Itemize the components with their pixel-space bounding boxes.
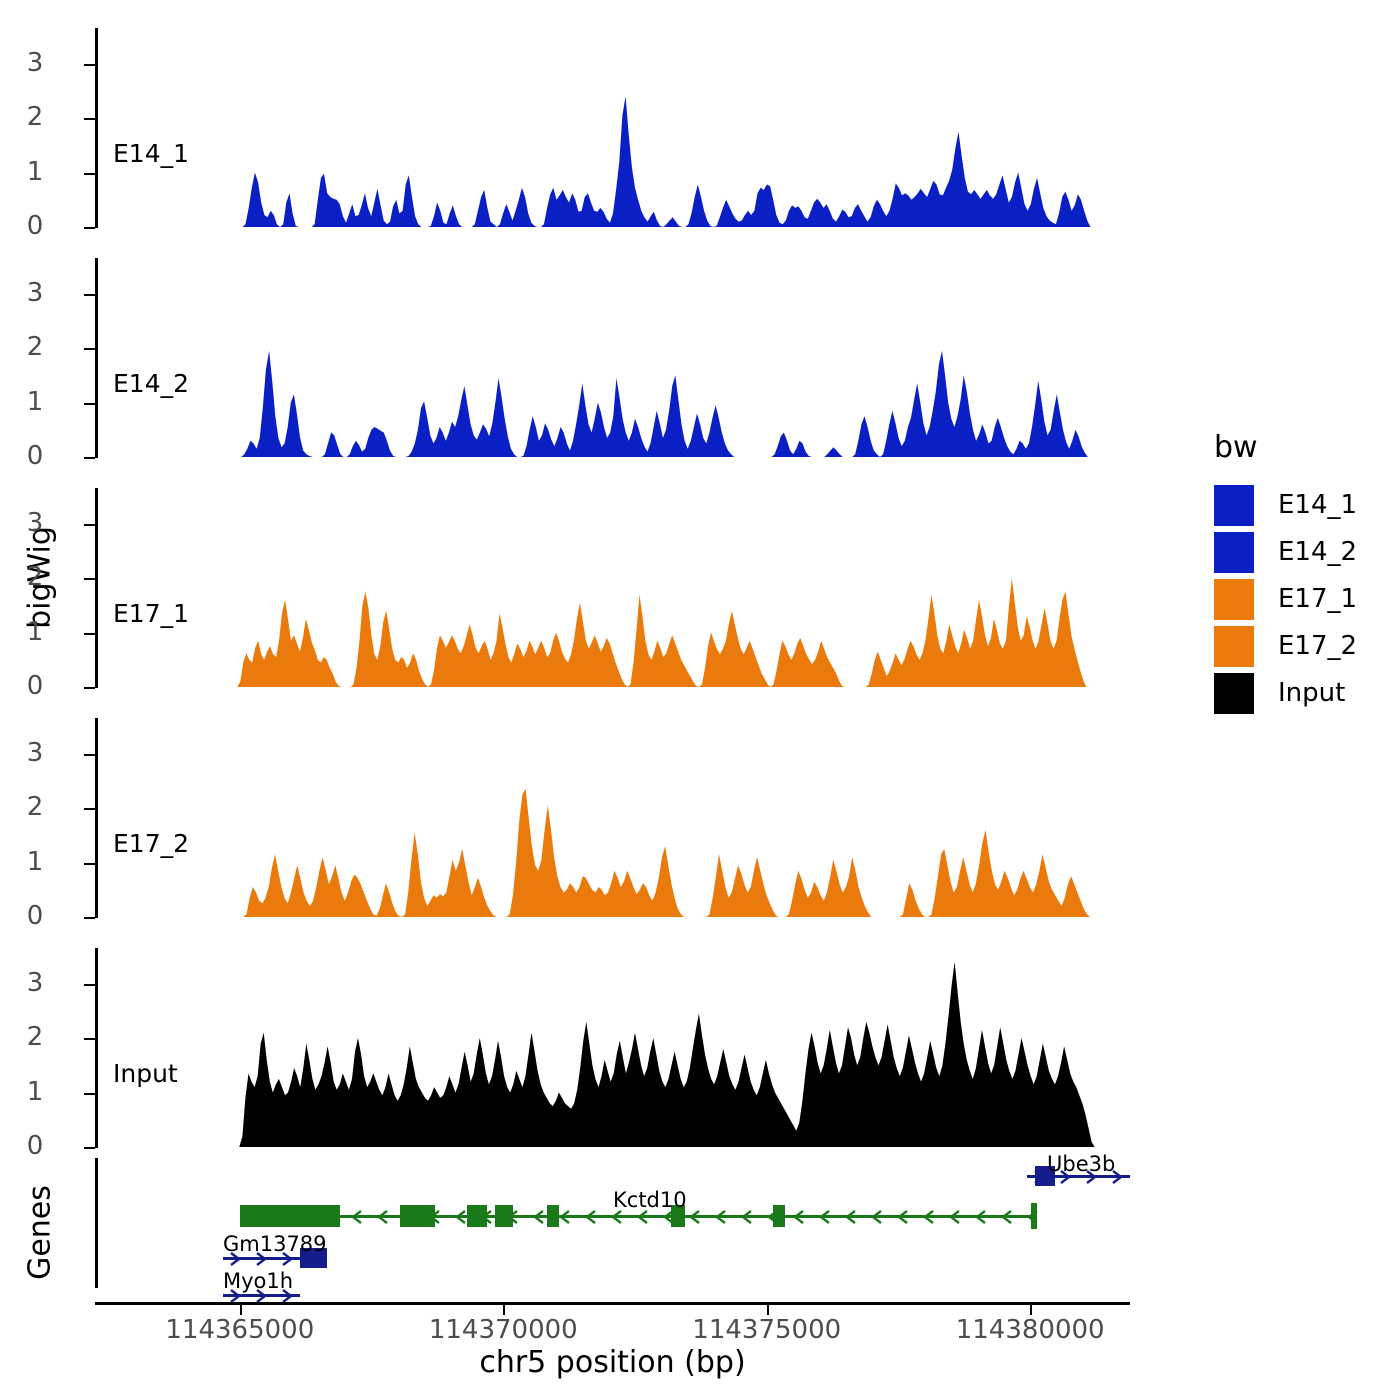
- y-tick-label: 2: [27, 1022, 44, 1052]
- gene-label-ube3b: Ube3b: [1047, 1152, 1115, 1176]
- y-tick-label: 3: [27, 278, 44, 308]
- legend-swatch: [1214, 532, 1254, 573]
- y-tick-label: 3: [27, 48, 44, 78]
- legend-title: bw: [1214, 430, 1357, 465]
- x-axis-line: [95, 1302, 1130, 1305]
- wiggle-area-e14_2: [98, 258, 1130, 458]
- legend-item-e17_1[interactable]: E17_1: [1214, 577, 1357, 621]
- y-tick-label: 0: [27, 901, 44, 931]
- y-tick: [84, 754, 95, 756]
- legend-label: E17_2: [1278, 631, 1357, 661]
- y-tick: [84, 808, 95, 810]
- x-tick: [240, 1305, 242, 1315]
- legend-label: E14_2: [1278, 537, 1357, 567]
- legend-swatch: [1214, 579, 1254, 620]
- legend-item-e17_2[interactable]: E17_2: [1214, 624, 1357, 668]
- legend-label: E17_1: [1278, 584, 1357, 614]
- y-tick-label: 2: [27, 562, 44, 592]
- y-tick-label: 1: [27, 387, 44, 417]
- gene-exon: [547, 1205, 559, 1227]
- genes-axis-line: [95, 1158, 98, 1288]
- y-tick-label: 3: [27, 738, 44, 768]
- y-tick: [84, 403, 95, 405]
- gene-strand-arrow: [845, 1209, 856, 1223]
- track-panel-e14_2: 0123E14_2: [95, 258, 1130, 458]
- y-tick: [84, 863, 95, 865]
- y-tick: [84, 1093, 95, 1095]
- y-tick: [84, 917, 95, 919]
- gene-strand-arrow: [793, 1209, 804, 1223]
- y-tick-label: 0: [27, 441, 44, 471]
- gene-exon: [240, 1205, 340, 1227]
- y-tick-label: 2: [27, 102, 44, 132]
- y-tick-label: 1: [27, 1077, 44, 1107]
- x-tick: [767, 1305, 769, 1315]
- wiggle-area-e17_1: [98, 488, 1130, 688]
- y-tick: [84, 1147, 95, 1149]
- track-panel-input: 0123Input: [95, 948, 1130, 1148]
- gene-label-kctd10: Kctd10: [613, 1188, 687, 1212]
- gene-exon: [495, 1205, 513, 1227]
- y-tick-label: 3: [27, 508, 44, 538]
- legend-swatch: [1214, 673, 1254, 714]
- wiggle-area-e14_1: [98, 28, 1130, 228]
- legend-item-input[interactable]: Input: [1214, 671, 1357, 715]
- y-tick: [84, 118, 95, 120]
- legend-items: E14_1E14_2E17_1E17_2Input: [1214, 483, 1357, 715]
- gene-strand-arrow: [559, 1209, 570, 1223]
- gene-strand-arrow: [741, 1209, 752, 1223]
- gene-strand-arrow: [377, 1209, 388, 1223]
- legend-item-e14_2[interactable]: E14_2: [1214, 530, 1357, 574]
- gene-strand-arrow: [923, 1209, 934, 1223]
- gene-strand-arrow: [975, 1209, 986, 1223]
- gene-exon: [773, 1205, 785, 1227]
- gene-strand-arrow: [871, 1209, 882, 1223]
- y-tick: [84, 1038, 95, 1040]
- gene-strand-arrow: [585, 1209, 596, 1223]
- legend: bw E14_1E14_2E17_1E17_2Input: [1214, 430, 1357, 718]
- gene-strand-arrow: [949, 1209, 960, 1223]
- gene-strand-arrow: [689, 1209, 700, 1223]
- gene-strand-arrow: [819, 1209, 830, 1223]
- gene-exon: [400, 1205, 435, 1227]
- genome-browser-figure: bigWig Genes chr5 position (bp) 0123E14_…: [0, 0, 1400, 1400]
- y-axis-label-genes: Genes: [23, 1133, 58, 1333]
- y-tick: [84, 984, 95, 986]
- x-tick-label: 114375000: [692, 1315, 841, 1345]
- legend-swatch: [1214, 626, 1254, 667]
- legend-swatch: [1214, 485, 1254, 526]
- x-axis-label: chr5 position (bp): [95, 1345, 1130, 1380]
- y-tick: [84, 64, 95, 66]
- wiggle-area-e17_2: [98, 718, 1130, 918]
- y-tick-label: 3: [27, 968, 44, 998]
- gene-strand-arrow: [715, 1209, 726, 1223]
- y-tick-label: 0: [27, 671, 44, 701]
- y-tick: [84, 633, 95, 635]
- y-tick: [84, 524, 95, 526]
- x-tick-label: 114365000: [165, 1315, 314, 1345]
- y-tick-label: 0: [27, 211, 44, 241]
- gene-exon: [467, 1205, 487, 1227]
- legend-label: Input: [1278, 678, 1345, 708]
- y-tick: [84, 348, 95, 350]
- wiggle-area-input: [98, 948, 1130, 1148]
- track-panel-e14_1: 0123E14_1: [95, 28, 1130, 228]
- gene-strand-arrow: [533, 1209, 544, 1223]
- genes-track-panel: Kctd10Ube3bGm13789Myo1h: [95, 1158, 1130, 1288]
- gene-end-cap: [1031, 1203, 1037, 1229]
- legend-label: E14_1: [1278, 490, 1357, 520]
- y-tick: [84, 578, 95, 580]
- y-tick-label: 0: [27, 1131, 44, 1161]
- x-tick: [1030, 1305, 1032, 1315]
- y-tick: [84, 227, 95, 229]
- gene-strand-arrow: [351, 1209, 362, 1223]
- y-tick-label: 1: [27, 157, 44, 187]
- x-tick-label: 114370000: [429, 1315, 578, 1345]
- gene-label-myo1h: Myo1h: [223, 1269, 293, 1293]
- y-tick-label: 1: [27, 847, 44, 877]
- y-tick-label: 2: [27, 332, 44, 362]
- track-panel-e17_2: 0123E17_2: [95, 718, 1130, 918]
- y-tick: [84, 173, 95, 175]
- track-panel-e17_1: 0123E17_1: [95, 488, 1130, 688]
- y-tick: [84, 687, 95, 689]
- gene-strand-arrow: [455, 1209, 466, 1223]
- gene-label-gm13789: Gm13789: [223, 1232, 327, 1256]
- y-tick: [84, 457, 95, 459]
- x-tick: [503, 1305, 505, 1315]
- legend-item-e14_1[interactable]: E14_1: [1214, 483, 1357, 527]
- y-tick-label: 2: [27, 792, 44, 822]
- gene-strand-arrow: [897, 1209, 908, 1223]
- x-tick-label: 114380000: [956, 1315, 1105, 1345]
- y-tick-label: 1: [27, 617, 44, 647]
- gene-strand-arrow: [1001, 1209, 1012, 1223]
- y-tick: [84, 294, 95, 296]
